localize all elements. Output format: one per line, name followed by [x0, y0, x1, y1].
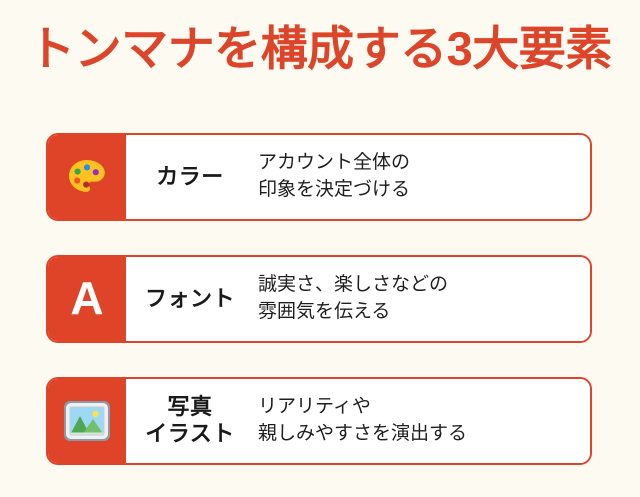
page-title: トンマナを構成する3大要素 [0, 22, 640, 76]
infographic-page: トンマナを構成する3大要素 カラー アカウント全体の 印象を [0, 0, 640, 497]
card-font: A フォント 誠実さ、楽しさなどの 雰囲気を伝える [46, 255, 592, 343]
card-photo-description: リアリティや 親しみやすさを演出する [254, 394, 590, 448]
card-color: カラー アカウント全体の 印象を決定づける [46, 133, 592, 221]
card-font-description: 誠実さ、楽しさなどの 雰囲気を伝える [254, 272, 590, 326]
card-color-body: カラー アカウント全体の 印象を決定づける [126, 135, 590, 219]
card-font-icon-panel: A [48, 257, 126, 341]
card-color-label: カラー [126, 164, 254, 191]
card-color-description: アカウント全体の 印象を決定づける [254, 150, 590, 204]
card-photo-icon-panel [48, 379, 126, 463]
card-color-icon-panel [48, 135, 126, 219]
card-font-label: フォント [126, 286, 254, 313]
card-photo: 写真 イラスト リアリティや 親しみやすさを演出する [46, 377, 592, 465]
letter-a-icon: A [70, 275, 103, 321]
palette-icon [62, 152, 112, 202]
card-list: カラー アカウント全体の 印象を決定づける A フォント 誠実さ、楽しさなどの … [46, 133, 592, 465]
picture-icon [62, 399, 112, 443]
card-photo-label: 写真 イラスト [126, 394, 254, 448]
card-photo-body: 写真 イラスト リアリティや 親しみやすさを演出する [126, 379, 590, 463]
card-font-body: フォント 誠実さ、楽しさなどの 雰囲気を伝える [126, 257, 590, 341]
